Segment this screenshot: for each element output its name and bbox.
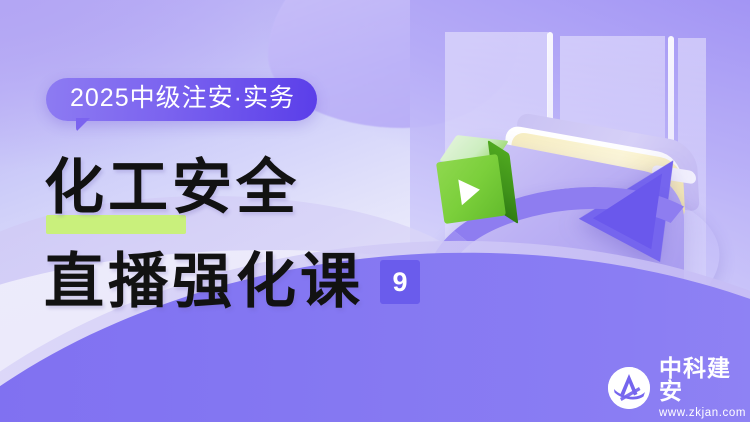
course-title-line-1: 化工安全 [44,158,300,218]
brand-logo-text: 中科建安 www.zkjan.com [659,357,750,420]
green-play-cube [440,138,536,234]
badge-tail-pointer [76,118,96,132]
course-tag-label: 2025中级注安·实务 [70,84,295,112]
brand-name: 中科建安 [659,357,750,403]
course-tag-badge: 2025中级注安·实务 [46,78,317,121]
brand-logo: 中科建安 www.zkjan.com [608,357,750,420]
play-triangle-icon [458,177,481,206]
brand-website-url: www.zkjan.com [659,408,750,420]
zkjan-circle-logo-icon [608,367,650,409]
episode-number-badge: 9 [380,260,420,304]
course-promo-banner: 2025中级注安·实务 化工安全 直播强化课 9 中科建安 www.zkjan.… [0,0,750,422]
course-title-line-2: 直播强化课 9 [44,252,420,312]
course-title-line-2-text: 直播强化课 [44,252,364,312]
